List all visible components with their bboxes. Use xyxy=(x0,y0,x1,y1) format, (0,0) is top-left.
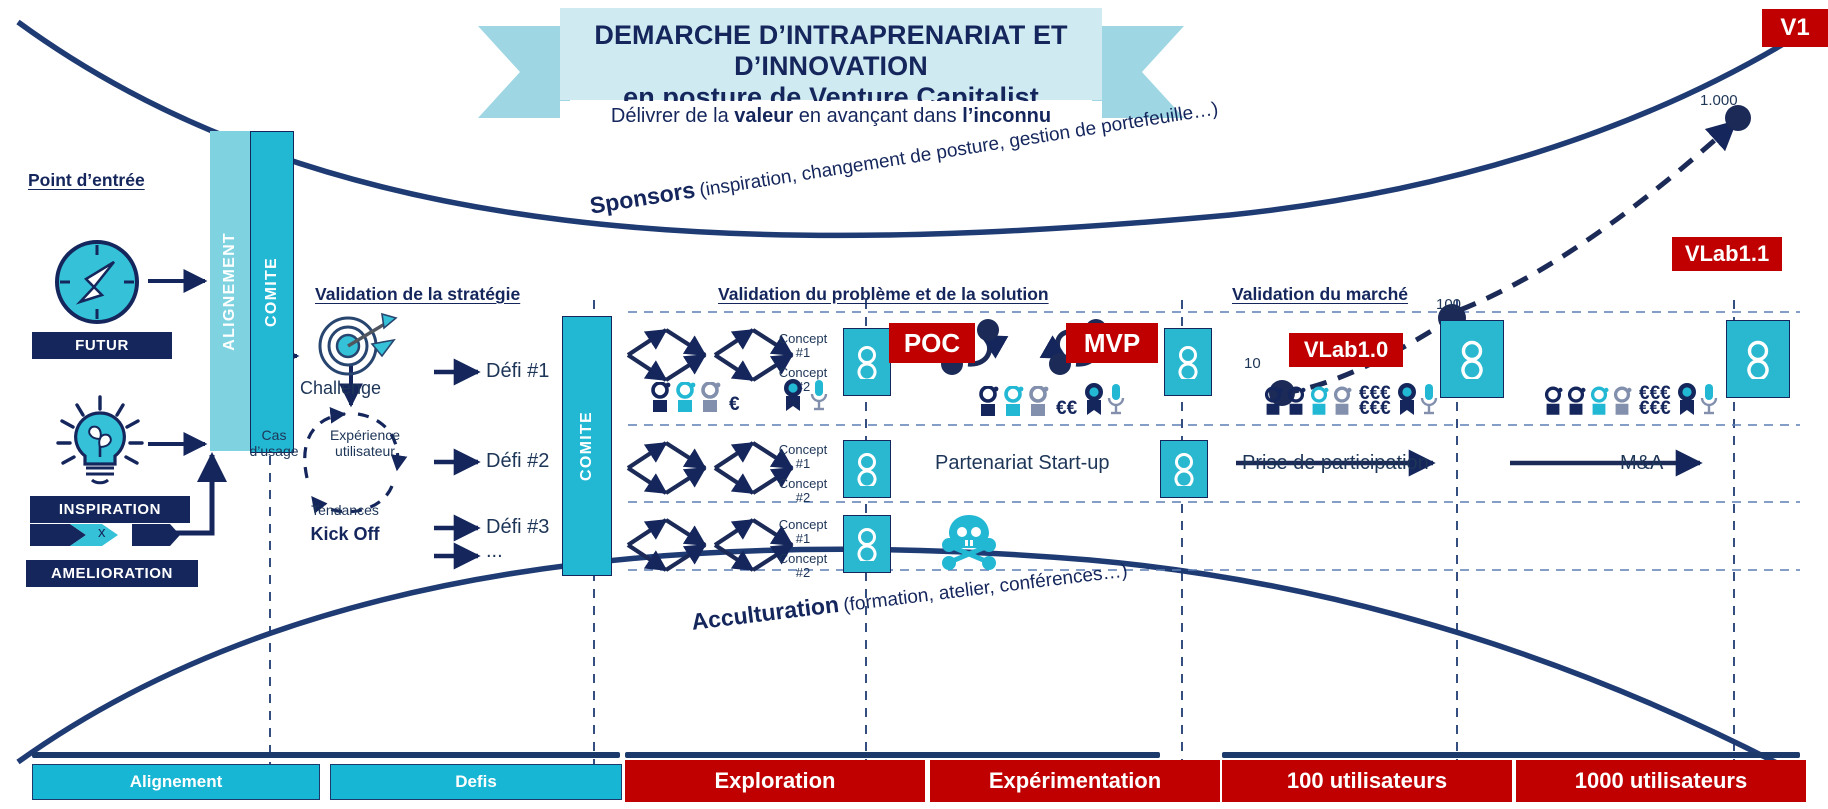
strategy-heading: Validation de la stratégie xyxy=(315,284,520,305)
challenge-label: Challenge xyxy=(300,378,381,399)
compass-icon xyxy=(50,235,144,334)
cycle-label-cas-usage: Casd’usage xyxy=(238,427,310,459)
badge-vlab10: VLab1.0 xyxy=(1289,333,1403,367)
row3-concept-1: Concept#1 xyxy=(772,518,834,546)
growth-label-100: 100 xyxy=(1436,296,1461,313)
bar-alignement: ALIGNEMENT xyxy=(210,131,250,451)
growth-label-10: 10 xyxy=(1244,355,1261,372)
icon-cluster-b: €€ xyxy=(976,382,1126,416)
euro-symbol-stack: €€€€€€ xyxy=(1639,386,1671,416)
person-icon xyxy=(1285,386,1307,416)
entry-arrows xyxy=(148,281,205,444)
person-icon xyxy=(1542,386,1564,416)
person-icon xyxy=(1308,386,1330,416)
row2-prise-participation-label: Prise de participation xyxy=(1242,452,1429,475)
bar-comite-1: COMITE xyxy=(250,131,294,453)
icon-cluster-a2 xyxy=(782,378,829,412)
heading-validation-marche-label: Validation du marché xyxy=(1232,284,1408,304)
euro-symbol: €€ xyxy=(1056,401,1077,416)
defi-label-more: ... xyxy=(486,540,503,563)
bar-alignement-label: ALIGNEMENT xyxy=(221,232,239,351)
row1-person-box-1 xyxy=(843,328,891,396)
medal-icon xyxy=(1083,382,1105,416)
entry-label-futur: FUTUR xyxy=(32,332,172,359)
medal-icon xyxy=(1676,382,1698,416)
phase-100-utilisateurs[interactable]: 100 utilisateurs xyxy=(1222,760,1512,802)
icon-cluster-d: €€€€€€ xyxy=(1542,382,1719,416)
defi-arrows xyxy=(434,372,478,556)
subtitle-part-c: en avançant dans xyxy=(793,105,962,127)
title-block: DEMARCHE D’INTRAPRENARIAT ET D’INNOVATIO… xyxy=(560,20,1102,113)
microphone-icon xyxy=(1419,382,1439,416)
title-ribbon: DEMARCHE D’INTRAPRENARIAT ET D’INNOVATIO… xyxy=(478,8,1184,120)
bar-comite-2-label: COMITE xyxy=(578,411,596,481)
phase-defis[interactable]: Defis xyxy=(330,764,622,800)
row2-person-box-1 xyxy=(843,440,891,498)
double-diamonds xyxy=(628,330,792,570)
skull-crossbones-icon xyxy=(940,512,998,575)
heading-validation-probleme-label: Validation du problème et de la solution xyxy=(718,284,1049,304)
cycle-label-tendances: Tendances xyxy=(290,503,400,517)
euro-symbol-stack: €€€€€€ xyxy=(1359,386,1391,416)
subtitle-part-a: Délivrer de la xyxy=(611,105,734,127)
row3-person-box-1 xyxy=(843,515,891,573)
badge-v1: V1 xyxy=(1762,9,1828,47)
person-icon xyxy=(1611,386,1633,416)
badge-vlab11: VLab1.1 xyxy=(1672,237,1782,271)
growth-label-1000: 1.000 xyxy=(1700,92,1738,109)
person-icon xyxy=(1565,386,1587,416)
rail-right xyxy=(1222,752,1800,758)
row2-partenariat-label: Partenariat Start-up xyxy=(935,452,1110,475)
person-icon xyxy=(673,382,697,412)
medal-icon xyxy=(1396,382,1418,416)
person-icon xyxy=(698,382,722,412)
microphone-icon xyxy=(1106,382,1126,416)
title-line-1: DEMARCHE D’INTRAPRENARIAT ET D’INNOVATIO… xyxy=(560,20,1102,82)
row3-concept-2: Concept#2 xyxy=(772,552,834,580)
phase-alignement[interactable]: Alignement xyxy=(32,764,320,800)
rail-left xyxy=(32,752,620,758)
defi-label-2: Défi #2 xyxy=(486,450,549,473)
defi-label-3: Défi #3 xyxy=(486,516,549,539)
badge-mvp: MVP xyxy=(1066,323,1158,363)
growth-dash-2 xyxy=(1460,122,1735,310)
person-icon xyxy=(976,386,1000,416)
microphone-icon xyxy=(1699,382,1719,416)
phase-experimentation[interactable]: Expérimentation xyxy=(930,760,1220,802)
heading-validation-marche: Validation du marché xyxy=(1232,284,1408,305)
person-icon xyxy=(1262,386,1284,416)
phase-exploration[interactable]: Exploration xyxy=(625,760,925,802)
microphone-icon xyxy=(809,378,829,412)
target-arrow-icon xyxy=(308,312,400,381)
row1-person-box-3 xyxy=(1440,320,1504,398)
row2-concept-1: Concept#1 xyxy=(772,443,834,471)
row2-concept-2: Concept#2 xyxy=(772,477,834,505)
diagram-canvas: DEMARCHE D’INTRAPRENARIAT ET D’INNOVATIO… xyxy=(0,0,1828,809)
defi-label-1: Défi #1 xyxy=(486,360,549,383)
entry-heading: Point d’entrée xyxy=(28,170,145,191)
row1-person-box-4 xyxy=(1726,320,1790,398)
person-icon xyxy=(1001,386,1025,416)
entry-label-amelioration: AMELIORATION xyxy=(26,560,198,587)
subtitle-valeur: valeur xyxy=(734,105,793,127)
heading-validation-probleme: Validation du problème et de la solution xyxy=(718,284,1049,305)
bar-comite-2: COMITE xyxy=(562,316,612,576)
icon-cluster-c: €€€€€€ xyxy=(1262,382,1439,416)
row2-person-box-2 xyxy=(1160,440,1208,498)
person-icon xyxy=(648,382,672,412)
lightbulb-plant-icon xyxy=(50,395,150,496)
amelioration-multiplier: x xyxy=(98,524,106,541)
sponsors-label-bold: Sponsors xyxy=(588,176,697,218)
person-icon xyxy=(1588,386,1610,416)
strategy-heading-label: Validation de la stratégie xyxy=(315,284,520,304)
entry-heading-label: Point d’entrée xyxy=(28,170,145,190)
rail-mid xyxy=(625,752,1160,758)
acculturation-label-bold: Acculturation xyxy=(690,591,840,635)
person-icon xyxy=(1026,386,1050,416)
person-icon xyxy=(1331,386,1353,416)
acculturation-label: Acculturation (formation, atelier, confé… xyxy=(690,556,1129,636)
kickoff-label: Kick Off xyxy=(290,527,400,541)
row1-concept-1: Concept#1 xyxy=(772,332,834,360)
bar-comite-1-label: COMITE xyxy=(263,257,281,327)
row1-person-box-2 xyxy=(1164,328,1212,396)
row2-ma-label: M&A xyxy=(1620,452,1663,475)
cycle-label-experience: Expérienceutilisateur xyxy=(312,427,418,459)
badge-poc: POC xyxy=(889,323,975,363)
phase-1000-utilisateurs[interactable]: 1000 utilisateurs xyxy=(1516,760,1806,802)
icon-cluster-a: € xyxy=(648,382,740,412)
euro-symbol: € xyxy=(729,397,740,412)
medal-icon xyxy=(782,378,804,412)
